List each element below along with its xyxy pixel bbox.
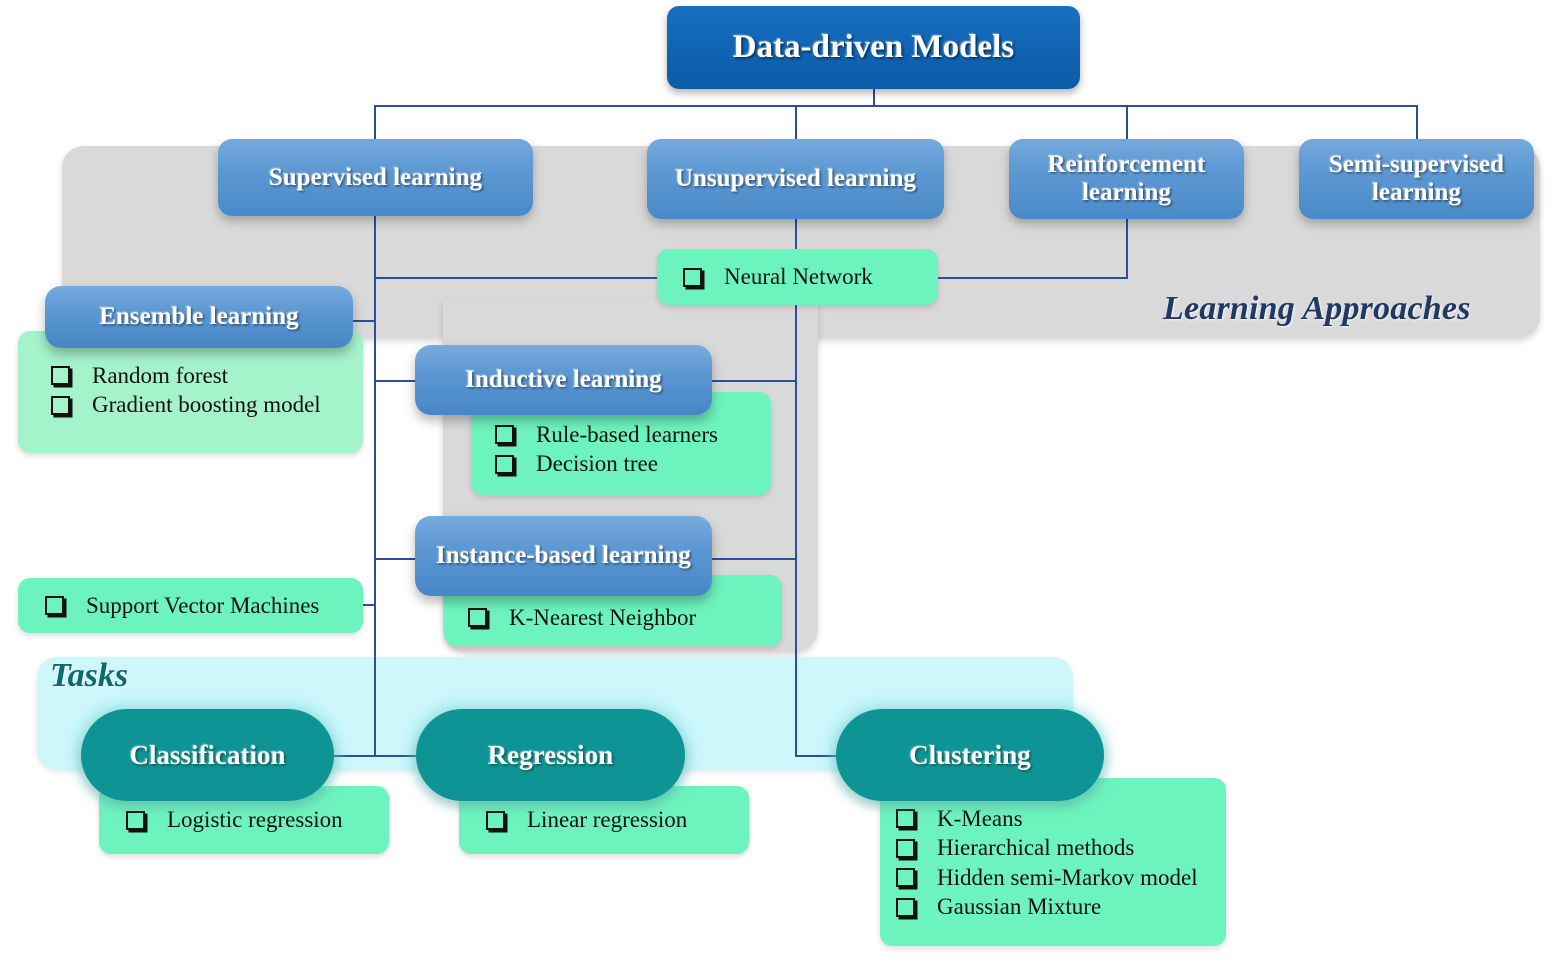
list-support-vector-machines: Support Vector Machines — [18, 578, 363, 633]
checkbox-icon — [51, 396, 70, 415]
list-item-label: Hidden semi-Markov model — [937, 863, 1198, 892]
list-item: Logistic regression — [126, 805, 343, 834]
connector-supervised-to-inductive — [374, 380, 418, 382]
connector-drop-unsupervised — [795, 105, 797, 139]
node-data-driven-models[interactable]: Data-driven Models — [667, 6, 1080, 89]
connector-neuralnetwork-to-unsupervised — [930, 277, 1128, 279]
connector-supervised-to-ensemble — [350, 320, 376, 322]
checkbox-icon — [51, 366, 70, 385]
list-item: Gaussian Mixture — [896, 892, 1226, 921]
node-label: Semi-supervised learning — [1299, 151, 1534, 207]
checkbox-icon — [495, 455, 514, 474]
tasks-label: Tasks — [50, 657, 128, 695]
connector-unsupervised-to-instancebased — [710, 558, 797, 560]
checkbox-icon — [896, 868, 915, 887]
checkbox-icon — [896, 898, 915, 917]
list-clustering: K-Means Hierarchical methods Hidden semi… — [880, 778, 1226, 946]
checkbox-icon — [896, 839, 915, 858]
node-semi-supervised-learning[interactable]: Semi-supervised learning — [1299, 139, 1534, 219]
node-inductive-learning[interactable]: Inductive learning — [415, 345, 712, 415]
list-item-label: K-Nearest Neighbor — [509, 603, 696, 632]
list-item-label: Rule-based learners — [536, 420, 718, 449]
connector-supervised-to-instancebased — [374, 558, 418, 560]
checkbox-icon — [468, 608, 487, 627]
connector-reinforcement-stem — [1126, 216, 1128, 277]
connector-top-bus — [374, 105, 1417, 107]
connector-supervised-to-neuralnetwork — [374, 277, 664, 279]
node-label: Reinforcement learning — [1009, 151, 1244, 207]
connector-supervised-spine — [374, 216, 376, 756]
node-label: Unsupervised learning — [675, 165, 916, 193]
checkbox-icon — [45, 596, 64, 615]
list-item: K-Means — [896, 804, 1226, 833]
list-item-label: Linear regression — [527, 805, 687, 834]
list-item-label: Random forest — [92, 361, 228, 390]
connector-drop-semisupervised — [1416, 105, 1418, 139]
list-item: Rule-based learners — [495, 420, 771, 449]
node-unsupervised-learning[interactable]: Unsupervised learning — [647, 139, 944, 219]
connector-root-stem — [873, 89, 875, 106]
node-label: Instance-based learning — [436, 542, 691, 570]
node-label: Data-driven Models — [733, 29, 1014, 66]
list-item: Support Vector Machines — [45, 591, 319, 620]
list-neural-network: Neural Network — [657, 249, 938, 305]
list-item: Linear regression — [486, 805, 687, 834]
list-ensemble-learning: Random forest Gradient boosting model — [18, 331, 363, 453]
node-label: Classification — [129, 740, 285, 770]
node-supervised-learning[interactable]: Supervised learning — [218, 139, 533, 216]
list-item: Decision tree — [495, 449, 771, 478]
list-item: Hidden semi-Markov model — [896, 863, 1226, 892]
node-ensemble-learning[interactable]: Ensemble learning — [45, 286, 353, 348]
list-item-label: Support Vector Machines — [86, 591, 319, 620]
list-item-label: K-Means — [937, 804, 1023, 833]
node-label: Clustering — [909, 740, 1031, 770]
learning-approaches-label: Learning Approaches — [1163, 290, 1471, 328]
node-reinforcement-learning[interactable]: Reinforcement learning — [1009, 139, 1244, 219]
list-item: K-Nearest Neighbor — [468, 603, 782, 632]
list-item-label: Gradient boosting model — [92, 390, 321, 419]
node-regression[interactable]: Regression — [416, 709, 685, 801]
list-item-label: Logistic regression — [167, 805, 343, 834]
connector-supervised-to-classification — [330, 755, 376, 757]
node-instance-based-learning[interactable]: Instance-based learning — [415, 516, 712, 596]
node-clustering[interactable]: Clustering — [836, 709, 1104, 801]
checkbox-icon — [126, 811, 145, 830]
connector-drop-supervised — [374, 105, 376, 139]
list-item: Hierarchical methods — [896, 833, 1226, 862]
connector-drop-reinforcement — [1126, 105, 1128, 139]
list-item: Random forest — [51, 361, 363, 390]
node-label: Regression — [488, 740, 614, 770]
list-item-label: Decision tree — [536, 449, 658, 478]
node-label: Inductive learning — [465, 366, 662, 394]
node-classification[interactable]: Classification — [81, 709, 334, 801]
list-item: Gradient boosting model — [51, 390, 363, 419]
node-label: Ensemble learning — [99, 303, 298, 331]
list-item-label: Hierarchical methods — [937, 833, 1134, 862]
diagram-canvas: Learning Approaches Tasks Data-driven Mo… — [0, 0, 1565, 965]
list-item-label: Gaussian Mixture — [937, 892, 1101, 921]
list-item-label: Neural Network — [724, 262, 873, 291]
checkbox-icon — [683, 268, 702, 287]
checkbox-icon — [896, 809, 915, 828]
connector-unsupervised-to-inductive — [710, 380, 797, 382]
checkbox-icon — [495, 425, 514, 444]
list-item: Neural Network — [683, 262, 873, 291]
checkbox-icon — [486, 811, 505, 830]
node-label: Supervised learning — [269, 164, 482, 192]
